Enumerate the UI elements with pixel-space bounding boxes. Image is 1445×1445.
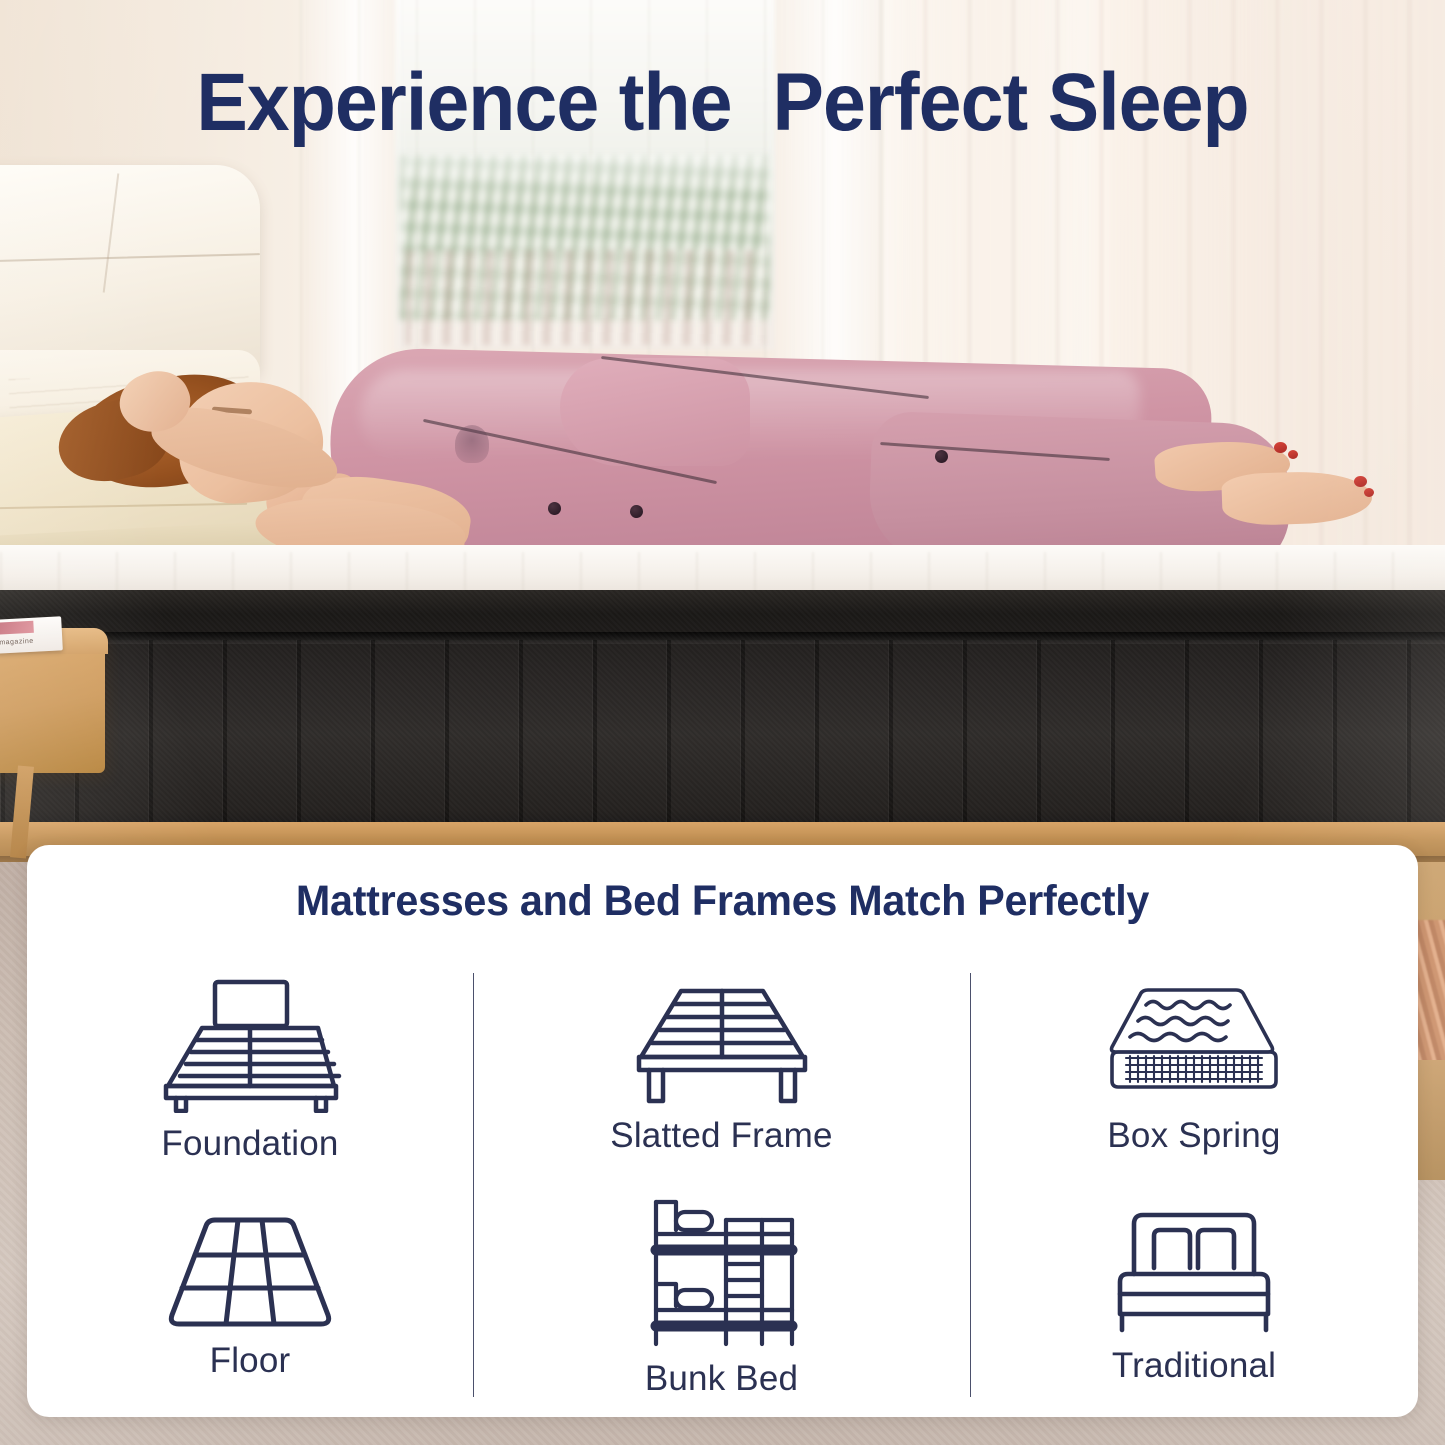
pajama-crest-embroidery [455,425,489,463]
bunk-bed-icon [642,1198,802,1353]
bed-foundation-icon [158,978,343,1118]
traditional-bed-icon [1108,1210,1280,1340]
box-spring-icon [1108,985,1280,1110]
slatted-frame-icon [633,985,811,1110]
compat-label-bunk-bed: Bunk Bed [645,1359,798,1399]
page-title: Experience the Perfect Sleep [43,62,1401,144]
compat-item-bunk-bed: Bunk Bed [473,1185,970,1413]
compat-item-box-spring: Box Spring [970,957,1418,1185]
headboard-seam-vertical [103,173,120,292]
pajama-button-4 [935,450,948,463]
toenail-4 [1364,488,1374,497]
compat-item-floor: Floor [27,1185,473,1413]
compat-label-foundation: Foundation [161,1124,338,1164]
compat-item-foundation: Foundation [27,957,473,1185]
magazine: magazine [0,616,63,653]
pajama-button-3 [630,505,643,518]
headboard-seam [0,253,260,263]
compat-label-traditional: Traditional [1112,1346,1276,1386]
card-title: Mattresses and Bed Frames Match Perfectl… [55,877,1390,926]
compat-item-slatted-frame: Slatted Frame [473,957,970,1185]
magazine-label: magazine [0,638,34,647]
mattress-quilting [0,552,1445,592]
pajama-sleeve [560,358,750,466]
toenail-1 [1274,442,1287,453]
floor-tiles-icon [165,1215,335,1335]
toenail-2 [1288,450,1298,459]
compatibility-grid: Foundation Slatted Frame [27,957,1418,1412]
toenail-3 [1354,476,1367,487]
magazine-cover-art [0,621,34,635]
foot-front [1221,469,1373,526]
compat-label-slatted-frame: Slatted Frame [610,1116,832,1156]
mattress-fabric-texture [0,590,1445,830]
compatibility-card: Mattresses and Bed Frames Match Perfectl… [27,845,1418,1417]
compat-label-floor: Floor [210,1341,291,1381]
pajama-button-2 [548,502,561,515]
compat-label-box-spring: Box Spring [1107,1116,1280,1156]
compat-item-traditional: Traditional [970,1185,1418,1413]
product-marketing-image: magazine Experience the Perfect Sleep Ma… [0,0,1445,1445]
